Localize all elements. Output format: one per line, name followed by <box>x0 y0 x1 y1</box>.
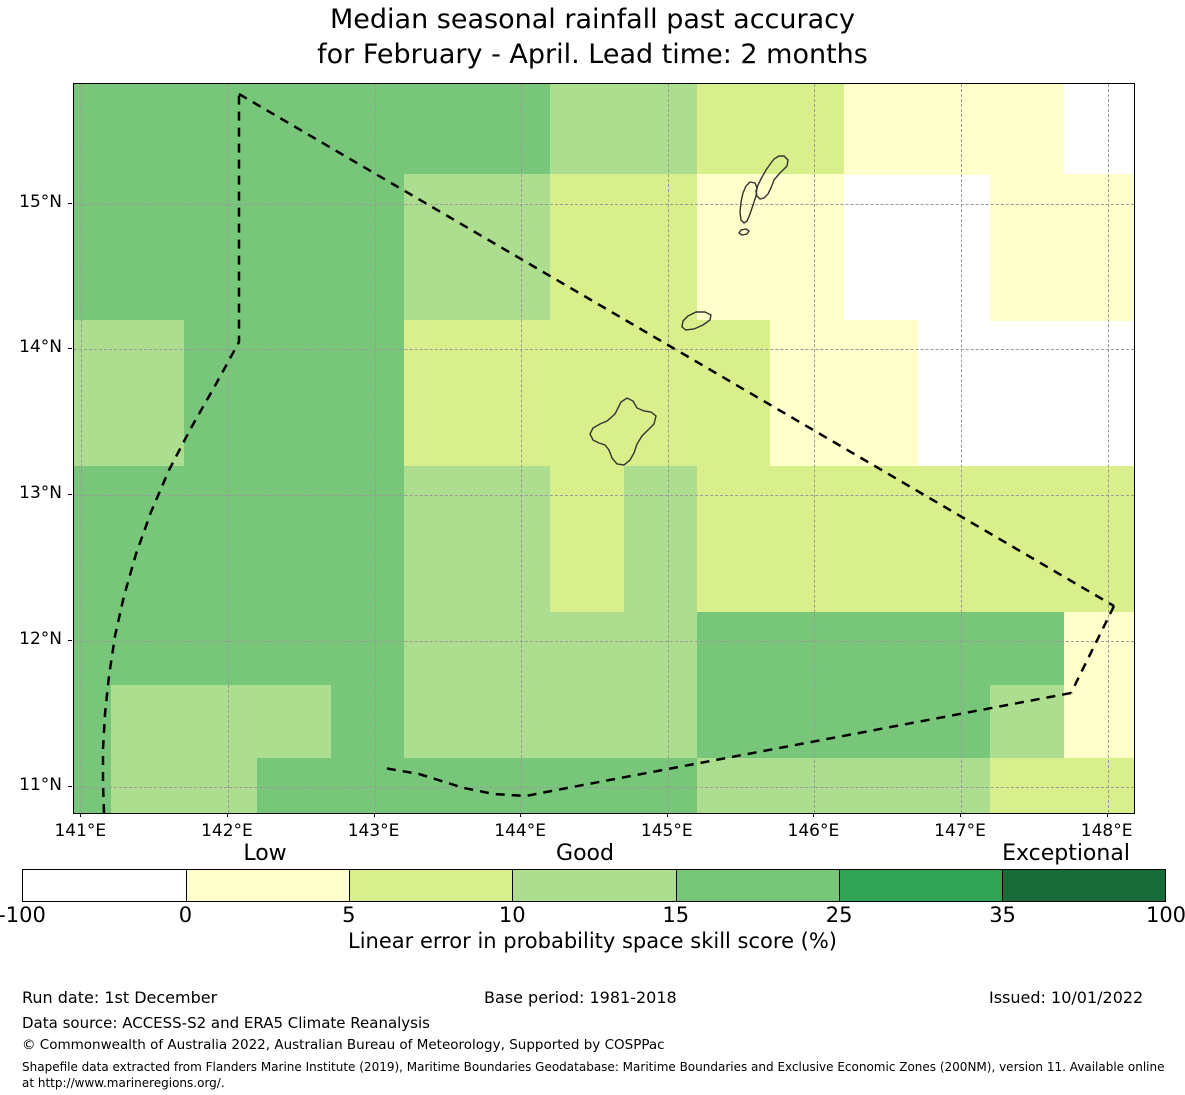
footer-copyright: © Commonwealth of Australia 2022, Austra… <box>22 1037 665 1053</box>
x-axis-tick-label: 143°E <box>314 821 434 841</box>
heatmap-cell <box>404 393 478 467</box>
heatmap-cell <box>917 685 991 759</box>
heatmap-cell <box>917 612 991 686</box>
x-axis-tick-mark <box>520 813 521 817</box>
heatmap-cell <box>917 758 991 814</box>
heatmap-cell <box>624 466 698 540</box>
x-axis-tick-mark <box>227 813 228 817</box>
map-plot-area <box>73 83 1135 814</box>
colorbar-separator <box>349 870 350 901</box>
heatmap-cell <box>770 539 844 613</box>
heatmap-cell <box>917 539 991 613</box>
x-axis-tick-mark <box>1107 813 1108 817</box>
colorbar-tick-labels: -1000510152535100 <box>0 903 1185 929</box>
heatmap-cell <box>550 758 624 814</box>
heatmap-cell <box>184 174 258 248</box>
heatmap-cell <box>184 320 258 394</box>
colorbar-axis-label: Linear error in probability space skill … <box>0 929 1185 953</box>
heatmap-cell <box>257 320 331 394</box>
heatmap-cells <box>74 84 1134 813</box>
colorbar-segment <box>349 870 512 901</box>
heatmap-cell <box>331 101 405 175</box>
heatmap-cell <box>404 685 478 759</box>
heatmap-cell <box>257 466 331 540</box>
heatmap-cell <box>550 84 624 102</box>
heatmap-cell <box>111 320 185 394</box>
heatmap-cell <box>770 612 844 686</box>
heatmap-cell <box>697 247 771 321</box>
heatmap-cell <box>257 685 331 759</box>
colorbar-category-labels: LowGoodExceptional <box>0 841 1185 867</box>
heatmap-cell <box>184 612 258 686</box>
heatmap-cell <box>1064 247 1135 321</box>
colorbar-tick-label: -100 <box>0 903 46 927</box>
heatmap-cell <box>184 84 258 102</box>
colorbar-segment <box>512 870 675 901</box>
footer-data-source: Data source: ACCESS-S2 and ERA5 Climate … <box>22 1014 430 1032</box>
heatmap-cell <box>990 612 1064 686</box>
x-axis-tick-label: 142°E <box>167 821 287 841</box>
heatmap-cell <box>990 758 1064 814</box>
heatmap-cell <box>844 320 918 394</box>
heatmap-cell <box>770 84 844 102</box>
heatmap-cell <box>404 320 478 394</box>
heatmap-cell <box>624 612 698 686</box>
heatmap-cell <box>111 539 185 613</box>
heatmap-cell <box>257 612 331 686</box>
colorbar-segment <box>23 870 186 901</box>
colorbar-segment <box>186 870 349 901</box>
heatmap-cell <box>844 84 918 102</box>
heatmap-cell <box>770 320 844 394</box>
heatmap-cell <box>990 247 1064 321</box>
heatmap-cell <box>1064 758 1135 814</box>
heatmap-cell <box>257 101 331 175</box>
x-axis-tick-label: 141°E <box>20 821 140 841</box>
footer-base-period: Base period: 1981-2018 <box>484 988 677 1007</box>
heatmap-cell <box>770 758 844 814</box>
y-axis-tick-label: 11°N <box>0 775 62 795</box>
heatmap-cell <box>331 393 405 467</box>
heatmap-cell <box>770 466 844 540</box>
heatmap-cell <box>74 466 111 540</box>
heatmap-cell <box>917 84 991 102</box>
heatmap-cell <box>624 685 698 759</box>
heatmap-cell <box>844 393 918 467</box>
heatmap-cell <box>770 393 844 467</box>
colorbar-category-label: Exceptional <box>1002 841 1130 866</box>
y-axis-tick-label: 15°N <box>0 192 62 212</box>
heatmap-cell <box>111 101 185 175</box>
heatmap-cell <box>74 101 111 175</box>
heatmap-cell <box>990 539 1064 613</box>
heatmap-cell <box>917 466 991 540</box>
heatmap-cell <box>477 758 551 814</box>
heatmap-cell <box>74 84 111 102</box>
colorbar-separator <box>676 870 677 901</box>
heatmap-cell <box>111 758 185 814</box>
heatmap-cell <box>74 320 111 394</box>
heatmap-cell <box>74 612 111 686</box>
heatmap-cell <box>550 247 624 321</box>
heatmap-cell <box>331 466 405 540</box>
heatmap-cell <box>550 320 624 394</box>
heatmap-cell <box>74 174 111 248</box>
y-axis-tick-mark <box>68 348 72 349</box>
heatmap-cell <box>1064 539 1135 613</box>
chart-title-line-2: for February - April. Lead time: 2 month… <box>0 37 1185 72</box>
heatmap-cell <box>624 101 698 175</box>
chart-title-line-1: Median seasonal rainfall past accuracy <box>0 2 1185 37</box>
heatmap-cell <box>404 612 478 686</box>
colorbar-segment <box>839 870 1002 901</box>
heatmap-cell <box>74 685 111 759</box>
heatmap-cell <box>331 685 405 759</box>
heatmap-cell <box>331 247 405 321</box>
heatmap-cell <box>697 174 771 248</box>
x-axis-tick-label: 145°E <box>607 821 727 841</box>
heatmap-cell <box>477 84 551 102</box>
x-axis-tick-mark <box>813 813 814 817</box>
y-axis-tick-mark <box>68 640 72 641</box>
heatmap-cell <box>477 320 551 394</box>
heatmap-cell <box>697 101 771 175</box>
heatmap-cell <box>624 174 698 248</box>
x-axis-tick-label: 147°E <box>900 821 1020 841</box>
heatmap-cell <box>1064 685 1135 759</box>
colorbar-tick-label: 35 <box>989 903 1016 927</box>
heatmap-cell <box>990 174 1064 248</box>
heatmap-cell <box>624 84 698 102</box>
colorbar-category-label: Low <box>243 841 286 866</box>
heatmap-cell <box>624 247 698 321</box>
y-axis-tick-label: 13°N <box>0 483 62 503</box>
heatmap-cell <box>550 466 624 540</box>
heatmap-cell <box>917 101 991 175</box>
heatmap-cell <box>331 612 405 686</box>
heatmap-cell <box>770 174 844 248</box>
heatmap-cell <box>404 466 478 540</box>
heatmap-cell <box>184 101 258 175</box>
heatmap-cell <box>697 466 771 540</box>
heatmap-cell <box>990 466 1064 540</box>
heatmap-cell <box>184 466 258 540</box>
colorbar <box>22 869 1166 902</box>
heatmap-cell <box>697 758 771 814</box>
heatmap-cell <box>111 612 185 686</box>
colorbar-tick-label: 100 <box>1146 903 1185 927</box>
heatmap-cell <box>844 612 918 686</box>
heatmap-cell <box>1064 612 1135 686</box>
heatmap-cell <box>111 247 185 321</box>
heatmap-cell <box>477 539 551 613</box>
colorbar-separator <box>1002 870 1003 901</box>
colorbar-segment <box>676 870 839 901</box>
colorbar-tick-label: 25 <box>826 903 853 927</box>
heatmap-cell <box>844 101 918 175</box>
y-axis-tick-mark <box>68 786 72 787</box>
heatmap-cell <box>624 393 698 467</box>
heatmap-cell <box>624 320 698 394</box>
heatmap-cell <box>990 84 1064 102</box>
heatmap-cell <box>331 758 405 814</box>
heatmap-cell <box>624 758 698 814</box>
heatmap-cell <box>990 101 1064 175</box>
footer-shapefile-line-2: at http://www.marineregions.org/. <box>22 1076 225 1090</box>
x-axis-tick-mark <box>374 813 375 817</box>
colorbar-separator <box>839 870 840 901</box>
heatmap-cell <box>697 393 771 467</box>
heatmap-cell <box>550 101 624 175</box>
heatmap-cell <box>1064 466 1135 540</box>
heatmap-cell <box>844 466 918 540</box>
heatmap-cell <box>257 174 331 248</box>
heatmap-cell <box>844 685 918 759</box>
heatmap-cell <box>697 320 771 394</box>
heatmap-cell <box>550 612 624 686</box>
heatmap-cell <box>770 101 844 175</box>
colorbar-tick-label: 5 <box>342 903 355 927</box>
heatmap-cell <box>184 758 258 814</box>
heatmap-cell <box>477 174 551 248</box>
heatmap-cell <box>477 393 551 467</box>
heatmap-cell <box>844 539 918 613</box>
heatmap-cell <box>770 685 844 759</box>
y-axis-tick-label: 12°N <box>0 629 62 649</box>
footer-run-date: Run date: 1st December <box>22 988 217 1007</box>
heatmap-cell <box>477 612 551 686</box>
colorbar-separator <box>186 870 187 901</box>
heatmap-cell <box>477 247 551 321</box>
x-axis-tick-label: 144°E <box>460 821 580 841</box>
heatmap-cell <box>184 685 258 759</box>
heatmap-cell <box>550 393 624 467</box>
heatmap-cell <box>477 685 551 759</box>
heatmap-cell <box>74 758 111 814</box>
heatmap-cell <box>404 758 478 814</box>
heatmap-cell <box>257 84 331 102</box>
colorbar-category-label: Good <box>556 841 614 866</box>
heatmap-cell <box>404 101 478 175</box>
colorbar-tick-label: 15 <box>662 903 689 927</box>
heatmap-cell <box>697 539 771 613</box>
chart-title: Median seasonal rainfall past accuracy f… <box>0 2 1185 72</box>
heatmap-cell <box>550 539 624 613</box>
heatmap-cell <box>844 758 918 814</box>
heatmap-cell <box>111 466 185 540</box>
heatmap-cell <box>184 393 258 467</box>
x-axis-tick-mark <box>960 813 961 817</box>
heatmap-cell <box>770 247 844 321</box>
heatmap-cell <box>550 174 624 248</box>
heatmap-cell <box>184 539 258 613</box>
heatmap-cell <box>624 539 698 613</box>
heatmap-cell <box>184 247 258 321</box>
y-axis-tick-label: 14°N <box>0 337 62 357</box>
x-axis-tick-label: 146°E <box>753 821 873 841</box>
heatmap-cell <box>111 84 185 102</box>
heatmap-cell <box>257 393 331 467</box>
heatmap-cell <box>1064 174 1135 248</box>
heatmap-cell <box>697 612 771 686</box>
heatmap-cell <box>404 84 478 102</box>
heatmap-cell <box>111 393 185 467</box>
heatmap-cell <box>257 758 331 814</box>
heatmap-cell <box>74 247 111 321</box>
x-axis-tick-label: 148°E <box>1047 821 1167 841</box>
heatmap-cell <box>331 539 405 613</box>
heatmap-cell <box>404 539 478 613</box>
footer-issued: Issued: 10/01/2022 <box>989 988 1143 1007</box>
heatmap-cell <box>404 247 478 321</box>
colorbar-separator <box>512 870 513 901</box>
heatmap-cell <box>697 685 771 759</box>
heatmap-cell <box>990 685 1064 759</box>
y-axis-tick-mark <box>68 203 72 204</box>
heatmap-cell <box>257 539 331 613</box>
heatmap-cell <box>74 393 111 467</box>
heatmap-cell <box>74 539 111 613</box>
heatmap-cell <box>257 247 331 321</box>
colorbar-tick-label: 10 <box>499 903 526 927</box>
heatmap-cell <box>550 685 624 759</box>
heatmap-cell <box>477 101 551 175</box>
colorbar-tick-label: 0 <box>179 903 192 927</box>
y-axis-tick-mark <box>68 494 72 495</box>
heatmap-cell <box>111 685 185 759</box>
heatmap-cell <box>477 466 551 540</box>
heatmap-cell <box>331 174 405 248</box>
heatmap-cell <box>331 84 405 102</box>
footer-shapefile-line-1: Shapefile data extracted from Flanders M… <box>22 1060 1164 1074</box>
x-axis-tick-mark <box>80 813 81 817</box>
x-axis-tick-mark <box>667 813 668 817</box>
heatmap-cell <box>331 320 405 394</box>
heatmap-cell <box>404 174 478 248</box>
colorbar-segment <box>1002 870 1165 901</box>
heatmap-cell <box>697 84 771 102</box>
heatmap-cell <box>111 174 185 248</box>
